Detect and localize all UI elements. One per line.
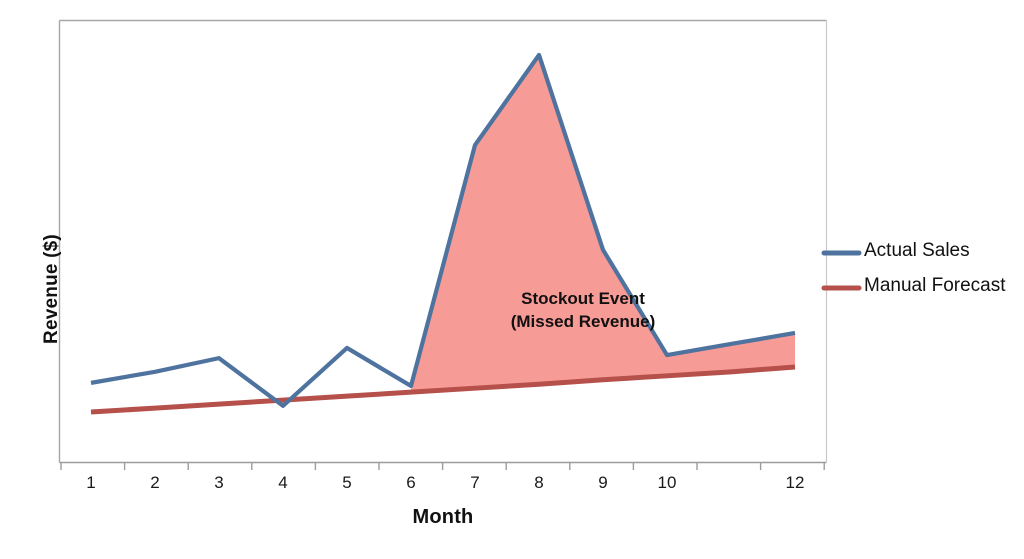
plot-area-background xyxy=(60,21,827,463)
stockout-annotation-subtitle: (Missed Revenue) xyxy=(433,312,733,332)
x-axis-tick-label-6: 6 xyxy=(383,473,439,493)
legend-item-actual-sales[interactable]: Actual Sales xyxy=(864,240,970,262)
x-axis-tick-label-9: 9 xyxy=(575,473,631,493)
x-axis-tick-label-5: 5 xyxy=(319,473,375,493)
y-axis-title: Revenue ($) xyxy=(41,219,63,359)
x-axis-ticks xyxy=(61,463,824,471)
x-axis-tick-label-8: 8 xyxy=(511,473,567,493)
x-axis-tick-label-7: 7 xyxy=(447,473,503,493)
x-axis-tick-label-3: 3 xyxy=(191,473,247,493)
x-axis-tick-label-2: 2 xyxy=(127,473,183,493)
x-axis-tick-label-10: 10 xyxy=(639,473,695,493)
legend-item-manual-forecast[interactable]: Manual Forecast xyxy=(864,275,1006,297)
stockout-annotation-title: Stockout Event xyxy=(433,289,733,309)
revenue-chart: Revenue ($) Month 1234567891012 Stockout… xyxy=(0,0,1024,559)
x-axis-tick-label-4: 4 xyxy=(255,473,311,493)
x-axis-tick-label-12: 12 xyxy=(767,473,823,493)
x-axis-title: Month xyxy=(333,506,553,529)
x-axis-tick-label-1: 1 xyxy=(63,473,119,493)
